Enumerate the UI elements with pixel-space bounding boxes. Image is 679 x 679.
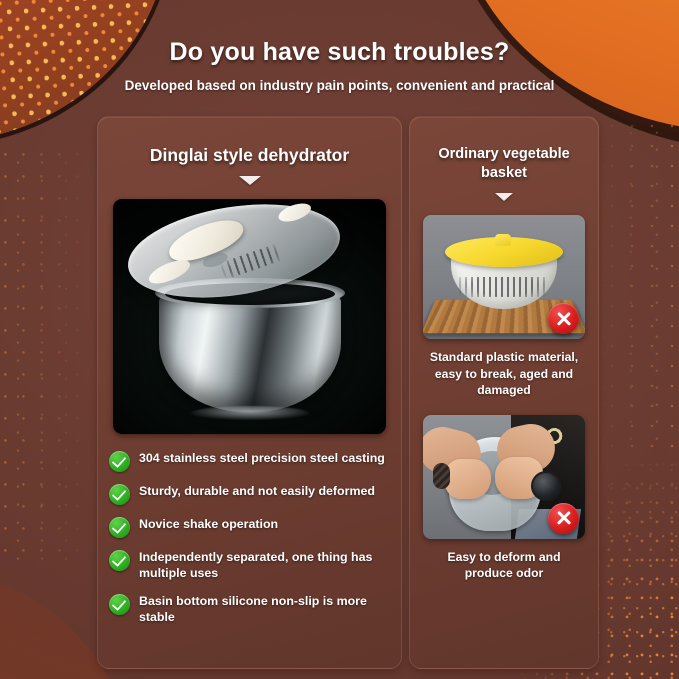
basket-lid-knob: [495, 234, 511, 246]
right-panel-heading: Ordinary vegetable basket: [410, 117, 598, 183]
card-caption: Easy to deform and produce odor: [423, 549, 585, 582]
list-item: Sturdy, durable and not easily deformed: [109, 483, 388, 505]
basket-drain-slots: [459, 277, 549, 297]
page-subtitle: Developed based on industry pain points,…: [0, 76, 679, 95]
steel-bowl-base: [191, 406, 309, 420]
list-item: Independently separated, one thing has m…: [109, 549, 388, 582]
wrist-bracelet: [433, 463, 450, 489]
triangle-down-icon: [239, 176, 261, 185]
green-check-circle-icon: [109, 484, 130, 505]
product-image-dehydrator: [113, 199, 386, 434]
page-title: Do you have such troubles?: [0, 38, 679, 67]
list-item: Basin bottom silicone non-slip is more s…: [109, 593, 388, 626]
comparison-card-plastic-basket: Standard plastic material, easy to break…: [423, 215, 585, 398]
left-hand: [445, 459, 491, 499]
triangle-down-icon: [495, 193, 513, 201]
green-check-circle-icon: [109, 451, 130, 472]
comparison-card-deformed-basket: Easy to deform and produce odor: [423, 415, 585, 582]
green-check-circle-icon: [109, 594, 130, 615]
infographic-canvas: Do you have such troubles? Developed bas…: [0, 0, 679, 679]
comparison-panels: Dinglai style dehydrator 304 st: [97, 116, 597, 668]
green-check-circle-icon: [109, 550, 130, 571]
product-image-deformed-basket: [423, 415, 585, 539]
lid-tab-right: [276, 200, 313, 225]
lid-tab-left: [146, 255, 193, 288]
panel-dinglai-dehydrator: Dinglai style dehydrator 304 st: [97, 116, 402, 669]
feature-text: Novice shake operation: [139, 516, 278, 533]
steel-bowl-body: [159, 296, 341, 412]
feature-text: Basin bottom silicone non-slip is more s…: [139, 593, 388, 626]
feature-text: 304 stainless steel precision steel cast…: [139, 450, 385, 467]
list-item: Novice shake operation: [109, 516, 388, 538]
product-image-plastic-basket: [423, 215, 585, 339]
wrist-watch: [531, 471, 561, 501]
panel-ordinary-basket: Ordinary vegetable basket Standard plast…: [409, 116, 599, 669]
feature-list: 304 stainless steel precision steel cast…: [98, 450, 401, 626]
feature-text: Independently separated, one thing has m…: [139, 549, 388, 582]
red-x-circle-icon: [548, 503, 579, 534]
list-item: 304 stainless steel precision steel cast…: [109, 450, 388, 472]
left-panel-heading: Dinglai style dehydrator: [98, 117, 401, 167]
feature-text: Sturdy, durable and not easily deformed: [139, 483, 375, 500]
speckles-middle-left: [0, 150, 110, 570]
header: Do you have such troubles? Developed bas…: [0, 38, 679, 95]
lid-vent-slots: [220, 243, 284, 280]
green-check-circle-icon: [109, 517, 130, 538]
card-caption: Standard plastic material, easy to break…: [423, 349, 585, 398]
